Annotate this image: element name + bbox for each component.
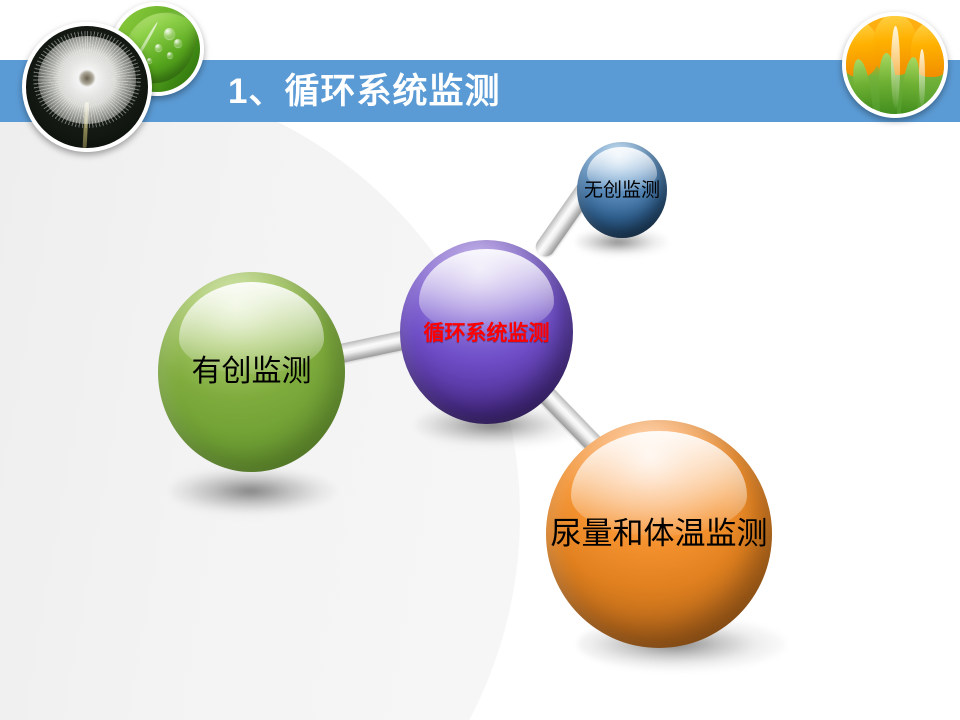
node-noninvasive-label: 无创监测 [584,181,660,200]
tulip-photo [842,12,948,118]
tulip-highlight [891,26,900,108]
node-center[interactable]: 循环系统监测 [400,240,573,424]
slide-canvas: 1、循环系统监测 有创监测 无创监测 [0,0,960,720]
page-title: 1、循环系统监测 [228,66,848,118]
dandelion-fluff-shape [33,31,140,129]
node-center-label: 循环系统监测 [424,322,550,343]
node-urine-temp[interactable]: 尿量和体温监测 [546,420,772,648]
node-urine-temp-label: 尿量和体温监测 [551,519,768,550]
tulip-highlight [919,49,926,108]
dandelion-photo [22,22,152,152]
shadow-ellipse-invasive [170,465,345,517]
water-droplet-icon [147,58,152,63]
node-invasive-label: 有创监测 [192,357,312,387]
node-invasive[interactable]: 有创监测 [158,272,345,472]
node-noninvasive[interactable]: 无创监测 [577,142,667,238]
water-droplet-icon [174,39,182,47]
